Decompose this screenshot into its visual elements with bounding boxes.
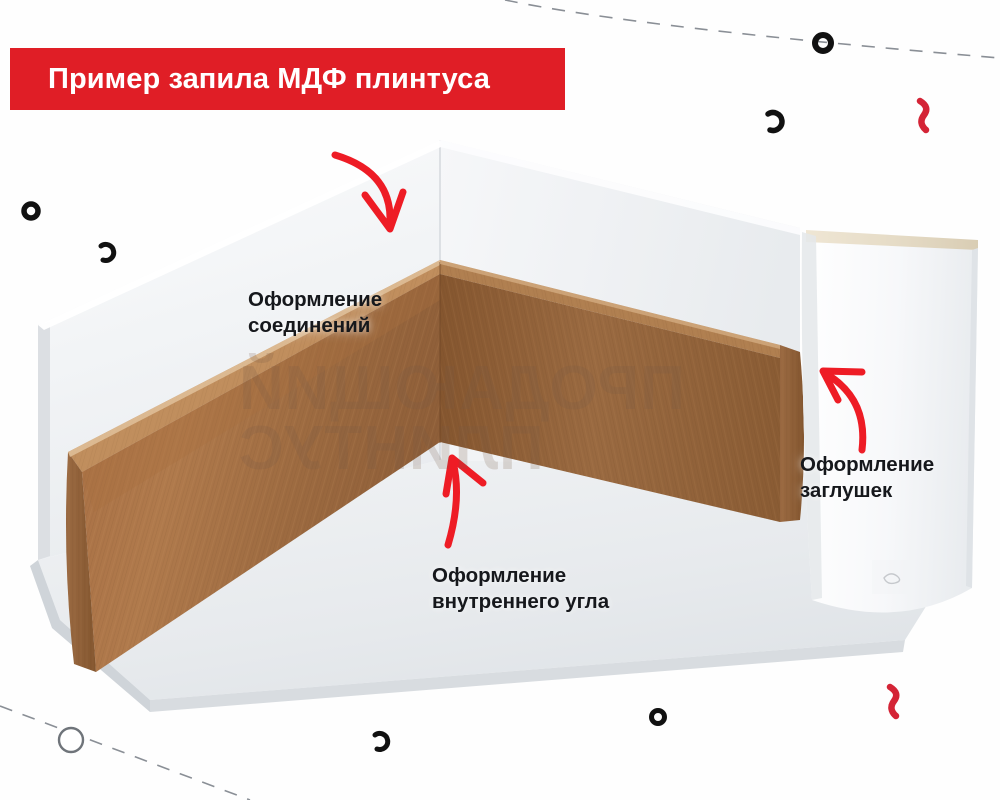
callout-endcaps-line2: заглушек [800,478,985,504]
squiggle-bottom-right [890,687,896,716]
arc-bottom [375,733,388,749]
callout-label-joints: Оформление соединений [248,287,448,339]
arc-left [101,244,114,260]
callout-joints-line2: соединений [248,313,448,339]
circle-outline-bottom-left [59,728,83,752]
callout-label-endcaps: Оформление заглушек [800,452,985,504]
callout-endcaps-line1: Оформление [800,452,985,478]
callout-label-inner-corner: Оформление внутреннего угла [432,563,692,615]
baseboard-scene [0,0,1000,800]
ring-top-right [815,35,831,51]
dashed-line-bottom [0,706,250,800]
wall-left-edge [38,322,50,560]
endcap-panel [802,230,978,613]
floor-sticker [872,560,914,594]
callout-inner-corner-line2: внутреннего угла [432,589,692,615]
endcap-body [802,232,978,613]
title-banner: Пример запила МДФ плинтуса [10,48,565,110]
callout-joints-line1: Оформление [248,287,448,313]
squiggle-top-right [920,101,926,130]
dashed-line-top [505,0,1000,58]
arc-top-right [768,113,782,131]
ring-left [24,204,38,218]
ring-bottom [652,711,665,724]
poster-canvas: ПРОДАЮЩИЙ ПЛИНТУС Пример запила МДФ плин… [0,0,1000,800]
callout-inner-corner-line1: Оформление [432,563,692,589]
banner-title: Пример запила МДФ плинтуса [48,63,490,96]
